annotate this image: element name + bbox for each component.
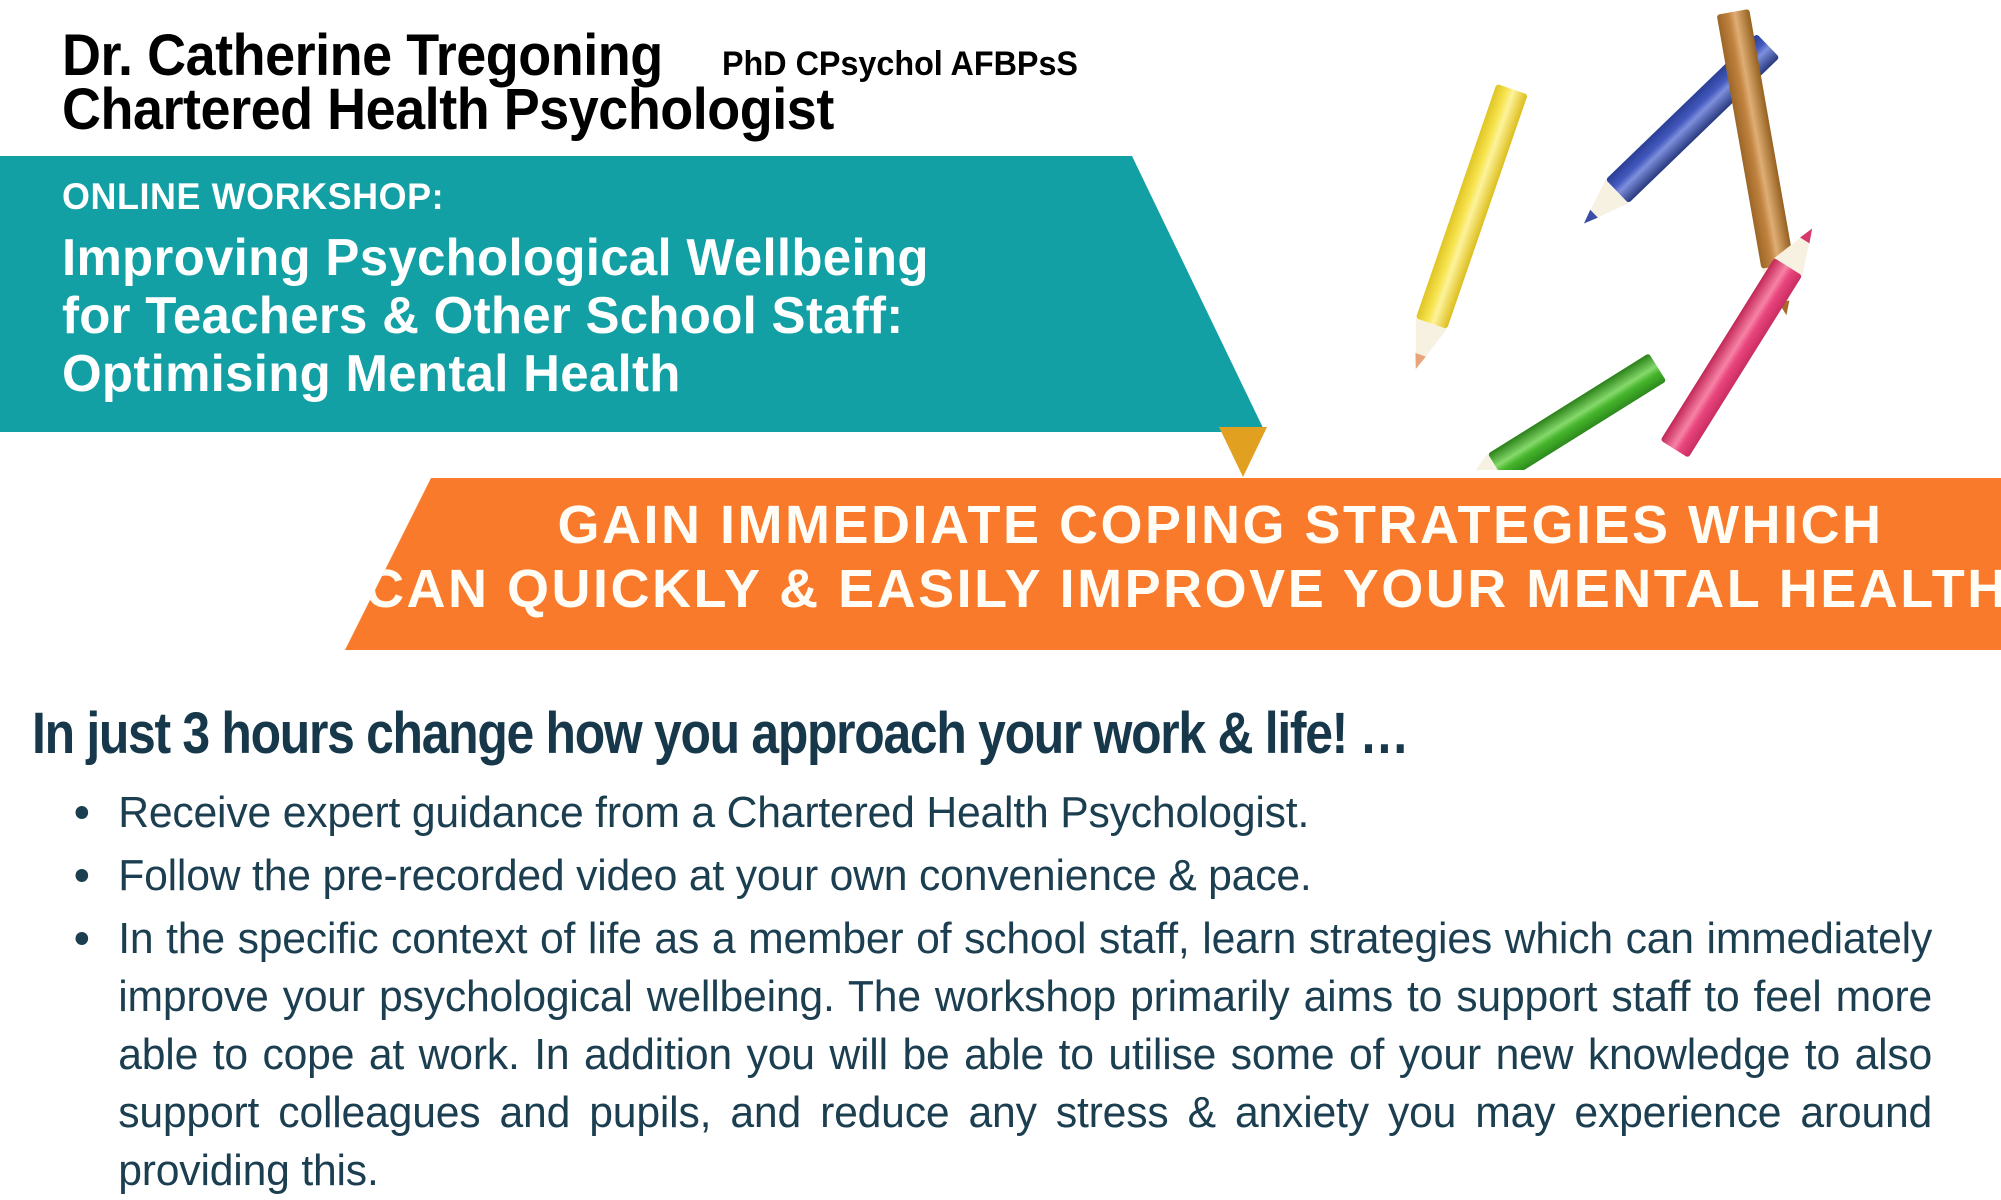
bullet-text-1: Receive expert guidance from a Chartered… xyxy=(118,788,1309,837)
workshop-flyer: Dr. Catherine TregoningPhD CPsychol AFBP… xyxy=(0,0,2001,1200)
orange-tagline-banner: GAIN IMMEDIATE COPING STRATEGIES WHICH C… xyxy=(345,478,2001,650)
list-item: In the specific context of life as a mem… xyxy=(60,910,1932,1200)
presenter-header: Dr. Catherine TregoningPhD CPsychol AFBP… xyxy=(62,28,1212,139)
presenter-professional-title: Chartered Health Psychologist xyxy=(62,81,834,139)
tagline-line-1: GAIN IMMEDIATE COPING STRATEGIES WHICH xyxy=(345,494,2001,558)
presenter-title-line: Chartered Health Psychologist xyxy=(62,85,1212,139)
body-heading: In just 3 hours change how you approach … xyxy=(32,700,1408,767)
workshop-title-line-1: Improving Psychological Wellbeing xyxy=(62,229,1160,287)
workshop-title-line-3: Optimising Mental Health xyxy=(62,345,1160,403)
benefits-list: Receive expert guidance from a Chartered… xyxy=(60,784,1960,1200)
bullet-text-3: In the specific context of life as a mem… xyxy=(118,914,1932,1195)
orange-banner-content: GAIN IMMEDIATE COPING STRATEGIES WHICH C… xyxy=(345,494,2001,621)
tagline-line-2: CAN QUICKLY & EASILY IMPROVE YOUR MENTAL… xyxy=(345,558,2001,622)
list-item: Receive expert guidance from a Chartered… xyxy=(60,784,1903,842)
workshop-title-line-2: for Teachers & Other School Staff: xyxy=(62,287,1160,345)
pencil-yellow xyxy=(1400,84,1528,375)
teal-banner-content: ONLINE WORKSHOP: Improving Psychological… xyxy=(62,178,1182,404)
list-item: Follow the pre-recorded video at your ow… xyxy=(60,847,1903,905)
workshop-kicker: ONLINE WORKSHOP: xyxy=(62,178,444,215)
workshop-title: Improving Psychological Wellbeing for Te… xyxy=(62,229,1182,404)
teal-workshop-banner: ONLINE WORKSHOP: Improving Psychological… xyxy=(0,156,1265,432)
coloured-pencils-image xyxy=(1380,0,2001,470)
pencil-pink xyxy=(1660,220,1826,458)
pencil-green xyxy=(1452,353,1666,470)
bullet-text-2: Follow the pre-recorded video at your ow… xyxy=(118,851,1311,900)
gold-triangle-accent xyxy=(1219,427,1267,477)
